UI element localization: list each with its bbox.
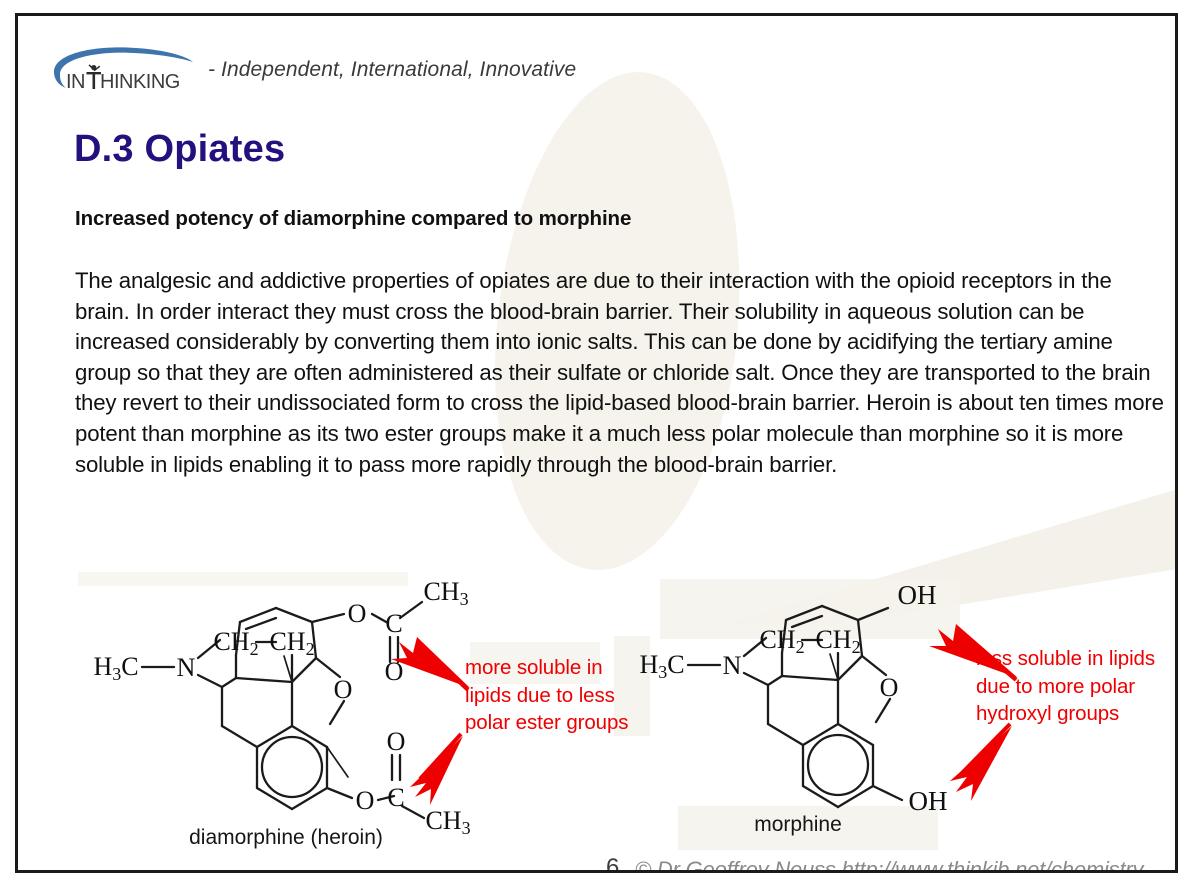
- label-hydroxyl-top: OH: [898, 580, 937, 610]
- label-ester-top-o: O: [348, 599, 367, 628]
- diamorphine-callout-note: more soluble in lipids due to less polar…: [465, 654, 650, 737]
- morphine-callout-note: less soluble in lipids due to more polar…: [976, 645, 1178, 728]
- label-methyl: H3C: [93, 652, 138, 684]
- slide-canvas: IN HINKING - Independent, International,…: [0, 0, 1193, 892]
- label-ether-oxygen: O: [880, 673, 899, 702]
- label-ester-bottom-carbonyl-o: O: [387, 727, 406, 756]
- label-nitrogen: N: [177, 653, 196, 682]
- body-paragraph: The analgesic and addictive properties o…: [75, 266, 1171, 480]
- label-ester-top-methyl: CH3: [423, 577, 468, 609]
- label-ch2-b: CH2: [815, 625, 860, 657]
- label-nitrogen: N: [723, 651, 742, 680]
- page-title: D.3 Opiates: [74, 128, 285, 171]
- brand-header: IN HINKING - Independent, International,…: [48, 42, 576, 98]
- diamorphine-caption: diamorphine (heroin): [126, 826, 446, 850]
- callout-arrows-left: [391, 637, 470, 805]
- slide-frame: IN HINKING - Independent, International,…: [15, 13, 1178, 873]
- brand-tagline: - Independent, International, Innovative: [208, 58, 576, 82]
- label-ether-oxygen: O: [334, 675, 353, 704]
- section-subtitle: Increased potency of diamorphine compare…: [75, 207, 631, 231]
- label-ester-bottom-o: O: [356, 786, 375, 815]
- page-number: 6: [606, 854, 619, 873]
- label-ester-top-carbon: C: [385, 609, 402, 638]
- label-ch2-a: CH2: [759, 625, 804, 657]
- morphine-caption: morphine: [658, 813, 938, 837]
- label-ch2-b: CH2: [269, 627, 314, 659]
- label-hydroxyl-bottom: OH: [909, 786, 948, 816]
- svg-text:HINKING: HINKING: [100, 71, 180, 93]
- label-ch2-a: CH2: [213, 627, 258, 659]
- svg-text:IN: IN: [66, 71, 85, 93]
- inthinking-logo-icon: IN HINKING: [48, 44, 196, 96]
- copyright-notice: © Dr Geoffrey Neuss http://www.thinkib.n…: [635, 857, 1143, 873]
- label-ester-bottom-carbon: C: [387, 783, 404, 812]
